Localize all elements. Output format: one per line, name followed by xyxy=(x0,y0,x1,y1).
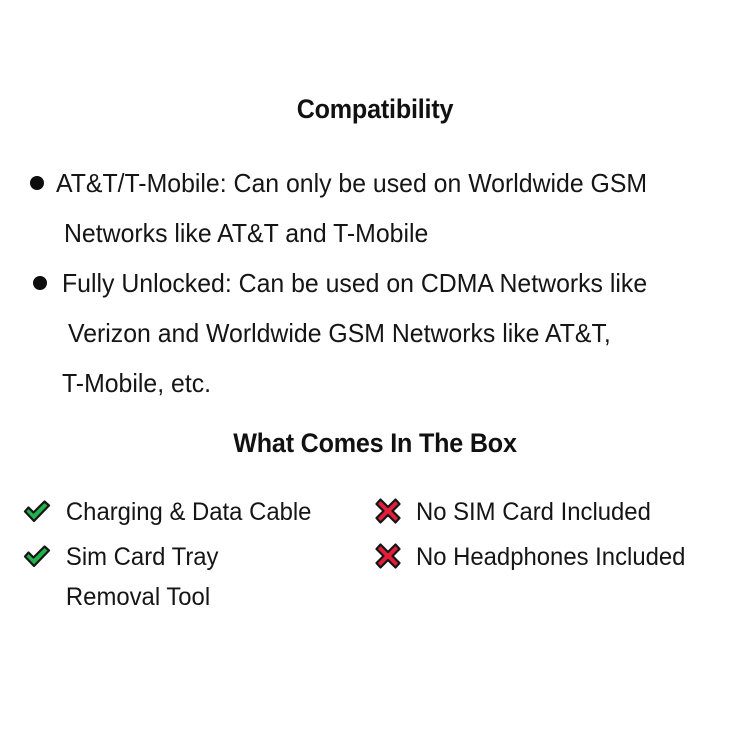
list-item-line: Networks like AT&T and T-Mobile xyxy=(64,208,428,258)
excluded-column: No SIM Card Included No Headphones Inclu… xyxy=(373,492,743,582)
list-item: No SIM Card Included xyxy=(373,492,743,534)
list-item-label: No SIM Card Included xyxy=(373,492,726,532)
included-column: Charging & Data Cable Sim Card Tray Remo… xyxy=(22,492,362,620)
compatibility-heading: Compatibility xyxy=(26,94,724,125)
list-item: No Headphones Included xyxy=(373,537,743,579)
list-item-line: AT&T/T-Mobile: Can only be used on World… xyxy=(56,158,647,208)
list-item-line: T-Mobile, etc. xyxy=(62,358,211,408)
list-item-line: Fully Unlocked: Can be used on CDMA Netw… xyxy=(62,258,647,308)
product-info-panel: Compatibility AT&T/T-Mobile: Can only be… xyxy=(0,0,750,750)
list-item: AT&T/T-Mobile: Can only be used on World… xyxy=(0,158,750,258)
list-item: Sim Card Tray Removal Tool xyxy=(22,537,362,617)
list-item-label: No Headphones Included xyxy=(373,537,726,577)
list-item: Fully Unlocked: Can be used on CDMA Netw… xyxy=(0,258,750,408)
bullet-circle-icon xyxy=(33,276,47,290)
list-item-label: Charging & Data Cable xyxy=(22,492,347,532)
bullet-circle-icon xyxy=(30,176,44,190)
compatibility-list: AT&T/T-Mobile: Can only be used on World… xyxy=(0,158,750,408)
box-contents-heading: What Comes In The Box xyxy=(26,428,724,459)
list-item: Charging & Data Cable xyxy=(22,492,362,534)
list-item-label: Sim Card Tray Removal Tool xyxy=(22,537,347,617)
list-item-line: Verizon and Worldwide GSM Networks like … xyxy=(68,308,611,358)
